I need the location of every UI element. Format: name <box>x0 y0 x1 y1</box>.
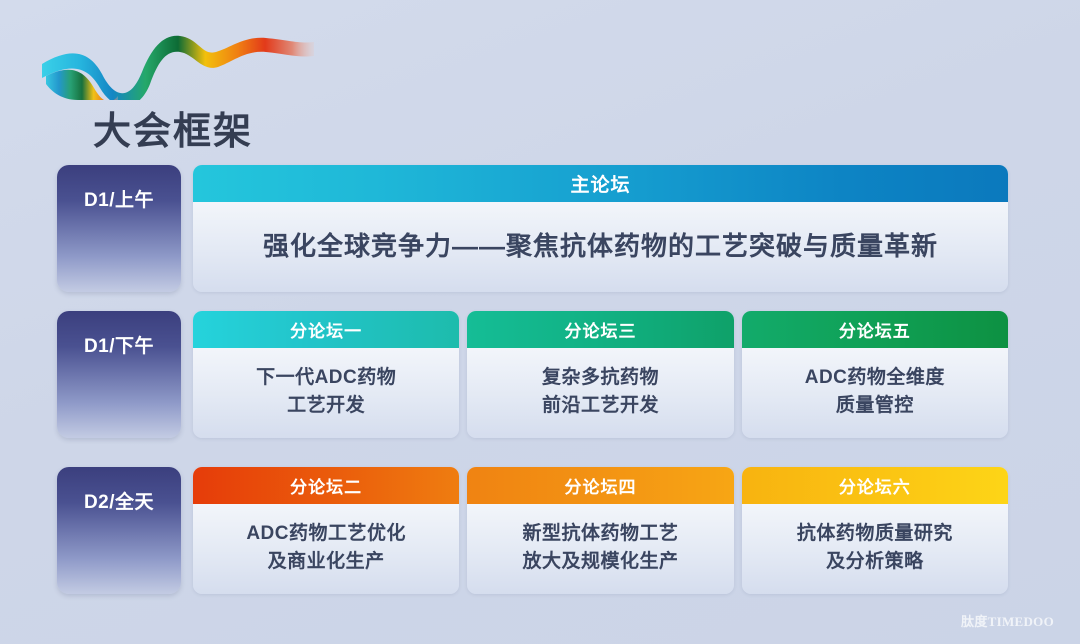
forum-card-header: 分论坛二 <box>193 467 459 504</box>
forum-card-body: 复杂多抗药物 前沿工艺开发 <box>467 348 733 438</box>
forum-card-body: 强化全球竞争力——聚焦抗体药物的工艺突破与质量革新 <box>193 202 1008 292</box>
row-cards: 主论坛 强化全球竞争力——聚焦抗体药物的工艺突破与质量革新 <box>193 165 1008 292</box>
forum-card-header: 分论坛六 <box>742 467 1008 504</box>
forum-card-body: 下一代ADC药物 工艺开发 <box>193 348 459 438</box>
forum-card-6[interactable]: 分论坛六 抗体药物质量研究 及分析策略 <box>742 467 1008 594</box>
forum-card-header: 分论坛五 <box>742 311 1008 348</box>
day-label-d2-allday: D2/全天 <box>57 467 181 594</box>
forum-card-line: ADC药物全维度 <box>805 364 945 392</box>
forum-card-line: 复杂多抗药物 <box>542 364 659 392</box>
forum-card-line: ADC药物工艺优化 <box>246 520 406 548</box>
forum-card-body: ADC药物全维度 质量管控 <box>742 348 1008 438</box>
forum-card-line: 下一代ADC药物 <box>256 364 396 392</box>
forum-card-line: 新型抗体药物工艺 <box>522 520 678 548</box>
page-title: 大会框架 <box>93 100 253 155</box>
forum-card-line: 前沿工艺开发 <box>542 392 659 420</box>
schedule-row-d1-afternoon: D1/下午 分论坛一 下一代ADC药物 工艺开发 分论坛三 复杂多抗药物 前沿工… <box>57 311 1008 438</box>
forum-card-line: 质量管控 <box>836 392 914 420</box>
watermark: 肽度TIMEDOO <box>961 611 1054 630</box>
schedule-row-d2-allday: D2/全天 分论坛二 ADC药物工艺优化 及商业化生产 分论坛四 新型抗体药物工… <box>57 467 1008 594</box>
day-label-d1-morning: D1/上午 <box>57 165 181 292</box>
schedule-row-d1-morning: D1/上午 主论坛 强化全球竞争力——聚焦抗体药物的工艺突破与质量革新 <box>57 165 1008 292</box>
forum-card-5[interactable]: 分论坛五 ADC药物全维度 质量管控 <box>742 311 1008 438</box>
forum-card-line: 及商业化生产 <box>268 548 385 576</box>
forum-card-4[interactable]: 分论坛四 新型抗体药物工艺 放大及规模化生产 <box>467 467 733 594</box>
page-header: 大会框架 <box>38 22 368 134</box>
forum-card-1[interactable]: 分论坛一 下一代ADC药物 工艺开发 <box>193 311 459 438</box>
day-label-d1-afternoon: D1/下午 <box>57 311 181 438</box>
forum-card-main[interactable]: 主论坛 强化全球竞争力——聚焦抗体药物的工艺突破与质量革新 <box>193 165 1008 292</box>
row-cards: 分论坛一 下一代ADC药物 工艺开发 分论坛三 复杂多抗药物 前沿工艺开发 分论… <box>193 311 1008 438</box>
forum-card-2[interactable]: 分论坛二 ADC药物工艺优化 及商业化生产 <box>193 467 459 594</box>
forum-card-line: 工艺开发 <box>287 392 365 420</box>
forum-card-body: 抗体药物质量研究 及分析策略 <box>742 504 1008 594</box>
forum-card-line: 及分析策略 <box>826 548 924 576</box>
forum-card-header: 分论坛四 <box>467 467 733 504</box>
row-cards: 分论坛二 ADC药物工艺优化 及商业化生产 分论坛四 新型抗体药物工艺 放大及规… <box>193 467 1008 594</box>
forum-card-body: 新型抗体药物工艺 放大及规模化生产 <box>467 504 733 594</box>
forum-card-line: 抗体药物质量研究 <box>797 520 953 548</box>
forum-card-header: 分论坛三 <box>467 311 733 348</box>
forum-card-line: 强化全球竞争力——聚焦抗体药物的工艺突破与质量革新 <box>263 228 938 266</box>
forum-card-header: 主论坛 <box>193 165 1008 202</box>
forum-card-header: 分论坛一 <box>193 311 459 348</box>
forum-card-body: ADC药物工艺优化 及商业化生产 <box>193 504 459 594</box>
forum-card-3[interactable]: 分论坛三 复杂多抗药物 前沿工艺开发 <box>467 311 733 438</box>
wave-ribbon-logo-icon <box>38 22 318 100</box>
forum-card-line: 放大及规模化生产 <box>522 548 678 576</box>
